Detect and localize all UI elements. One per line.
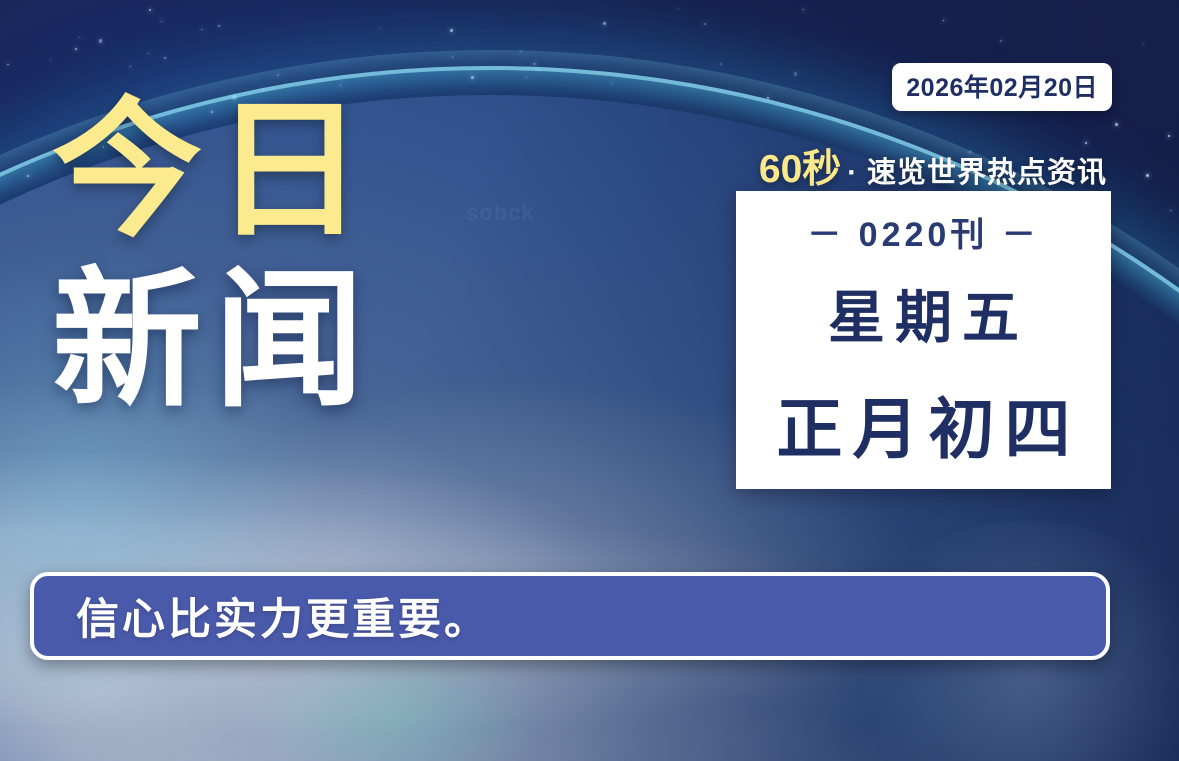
headline-line-2: 新闻: [52, 266, 376, 414]
info-card: － 0220刊 － 星期五 正月初四: [736, 191, 1111, 489]
headline-line-1: 今日: [52, 96, 376, 244]
weekday-label: 星期五: [818, 272, 1029, 354]
quote-text: 信心比实力更重要。: [34, 585, 490, 647]
watermark-text: sobck: [466, 200, 535, 226]
issue-number: － 0220刊 －: [807, 207, 1040, 256]
date-badge: 2026年02月20日: [892, 63, 1112, 111]
lunar-date-label: 正月初四: [767, 376, 1081, 472]
tagline: 60秒 · 速览世界热点资讯: [759, 138, 1107, 194]
tagline-seconds: 60秒: [759, 138, 841, 194]
quote-bar: 信心比实力更重要。: [30, 572, 1110, 660]
news-poster: sobck 今日 新闻 2026年02月20日 60秒 · 速览世界热点资讯 －…: [0, 0, 1179, 761]
page-title: 今日 新闻: [52, 96, 376, 414]
tagline-rest: · 速览世界热点资讯: [847, 149, 1107, 191]
